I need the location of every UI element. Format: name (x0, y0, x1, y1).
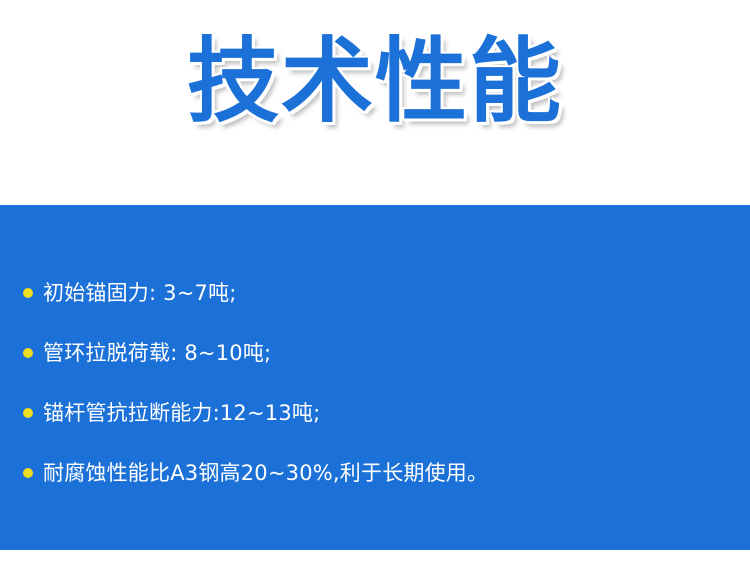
spec-item-label: 耐腐蚀性能比A3钢高20~30%,利于长期使用。 (43, 463, 488, 484)
list-item: 锚杆管抗拉断能力:12~13吨; (0, 383, 750, 443)
spec-item-label: 锚杆管抗拉断能力:12~13吨; (43, 403, 320, 424)
page-header: 技术性能 (0, 0, 750, 205)
spec-item-label: 管环拉脱荷载: 8~10吨; (43, 343, 271, 364)
dot-icon (23, 408, 33, 418)
list-item: 初始锚固力: 3~7吨; (0, 263, 750, 323)
dot-icon (23, 348, 33, 358)
dot-icon (23, 468, 33, 478)
page-title: 技术性能 (187, 34, 563, 131)
footer-strip (0, 550, 750, 584)
dot-icon (23, 288, 33, 298)
product-spec-page: 技术性能 初始锚固力: 3~7吨; 管环拉脱荷载: 8~10吨; 锚杆管抗拉断能… (0, 0, 750, 584)
list-item: 管环拉脱荷载: 8~10吨; (0, 323, 750, 383)
spec-item-label: 初始锚固力: 3~7吨; (43, 283, 237, 304)
list-item: 耐腐蚀性能比A3钢高20~30%,利于长期使用。 (0, 443, 750, 503)
technical-specs-panel: 初始锚固力: 3~7吨; 管环拉脱荷载: 8~10吨; 锚杆管抗拉断能力:12~… (0, 205, 750, 550)
spec-list: 初始锚固力: 3~7吨; 管环拉脱荷载: 8~10吨; 锚杆管抗拉断能力:12~… (0, 263, 750, 503)
